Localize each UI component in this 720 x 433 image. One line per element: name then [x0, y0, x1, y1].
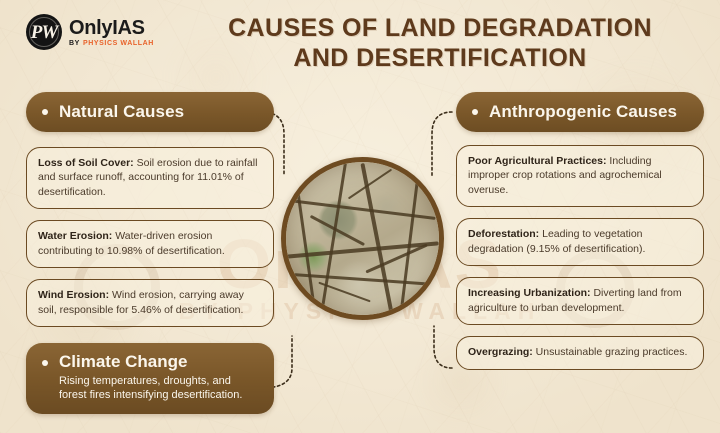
page-title-line-1: CAUSES OF LAND DEGRADATION	[170, 14, 710, 44]
header: PW OnlyIAS BY PHYSICS WALLAH CAUSES OF L…	[0, 0, 720, 88]
card-term: Loss of Soil Cover:	[38, 157, 134, 169]
card-term: Increasing Urbanization:	[468, 287, 591, 299]
card-poor-agricultural-practices[interactable]: Poor Agricultural Practices: Including i…	[456, 145, 704, 207]
card-term: Overgrazing:	[468, 346, 533, 358]
card-climate-change[interactable]: Climate Change Rising temperatures, drou…	[26, 343, 274, 414]
page-title: CAUSES OF LAND DEGRADATION AND DESERTIFI…	[170, 14, 710, 73]
bullet-icon	[42, 109, 48, 115]
brand-parent-line: BY PHYSICS WALLAH	[69, 40, 154, 47]
brand-by-label: BY	[69, 40, 80, 47]
section-header-natural-causes[interactable]: Natural Causes	[26, 92, 274, 132]
center-cracked-earth-image	[281, 157, 444, 320]
card-loss-of-soil-cover[interactable]: Loss of Soil Cover: Soil erosion due to …	[26, 147, 274, 209]
card-climate-change-title-row: Climate Change	[42, 352, 258, 372]
section-header-natural-causes-label: Natural Causes	[59, 102, 184, 122]
brand-parent-name: PHYSICS WALLAH	[83, 40, 154, 47]
page-title-line-2: AND DESERTIFICATION	[170, 44, 710, 74]
left-column: Natural Causes Loss of Soil Cover: Soil …	[26, 92, 274, 414]
brand-logo: PW OnlyIAS BY PHYSICS WALLAH	[26, 14, 154, 50]
card-term: Wind Erosion:	[38, 289, 109, 301]
card-increasing-urbanization[interactable]: Increasing Urbanization: Diverting land …	[456, 277, 704, 325]
card-deforestation[interactable]: Deforestation: Leading to vegetation deg…	[456, 218, 704, 266]
brand-logo-text: OnlyIAS BY PHYSICS WALLAH	[69, 18, 154, 47]
card-climate-change-body: Rising temperatures, droughts, and fores…	[42, 374, 258, 403]
card-climate-change-title: Climate Change	[59, 352, 187, 372]
card-term: Deforestation:	[468, 228, 539, 240]
card-wind-erosion[interactable]: Wind Erosion: Wind erosion, carrying awa…	[26, 279, 274, 327]
bullet-icon	[472, 109, 478, 115]
pw-badge-text: PW	[31, 23, 58, 42]
section-header-anthropogenic-causes-label: Anthropogenic Causes	[489, 102, 677, 122]
brand-name: OnlyIAS	[69, 18, 154, 38]
card-water-erosion[interactable]: Water Erosion: Water-driven erosion cont…	[26, 220, 274, 268]
card-overgrazing[interactable]: Overgrazing: Unsustainable grazing pract…	[456, 336, 704, 369]
bullet-icon	[42, 360, 48, 366]
card-term: Poor Agricultural Practices:	[468, 155, 606, 167]
section-header-anthropogenic-causes[interactable]: Anthropogenic Causes	[456, 92, 704, 132]
pw-badge-icon: PW	[26, 14, 62, 50]
connector-right-bottom	[434, 326, 452, 368]
right-column: Anthropogenic Causes Poor Agricultural P…	[456, 92, 704, 370]
circle-inner-shadow	[286, 162, 439, 315]
card-term: Water Erosion:	[38, 230, 112, 242]
card-text: Unsustainable grazing practices.	[533, 346, 688, 358]
infographic-page: OnlyIAS BY PHYSICS WALLAH PW OnlyIAS BY …	[0, 0, 720, 433]
